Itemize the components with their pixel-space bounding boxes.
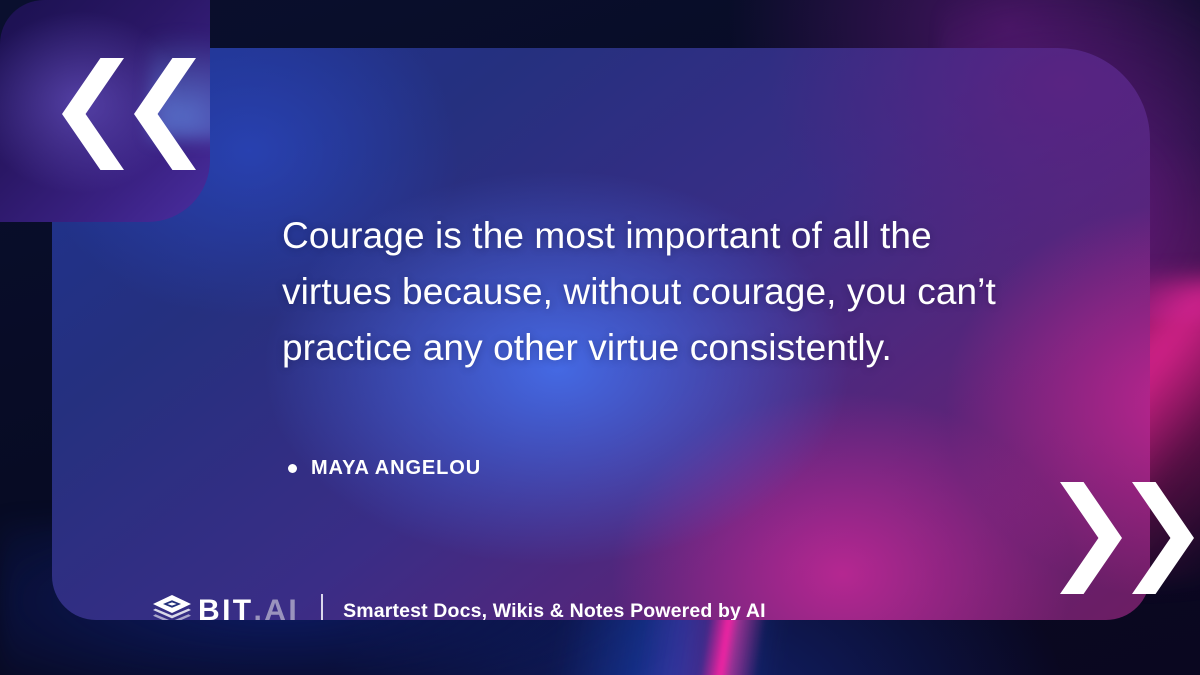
quote-text: Courage is the most important of all the… xyxy=(282,208,1012,376)
chevron-left-icon-1 xyxy=(62,58,124,170)
quote-attribution: MAYA ANGELOU xyxy=(288,457,481,480)
bullet-icon xyxy=(288,464,297,473)
brand-wordmark: BIT .AI xyxy=(198,596,299,620)
brand-name-primary: BIT xyxy=(198,596,254,620)
opening-quote-tab xyxy=(0,0,210,222)
author-name: MAYA ANGELOU xyxy=(311,457,481,480)
brand-divider xyxy=(321,594,323,620)
quote-card-canvas: Courage is the most important of all the… xyxy=(0,0,1200,675)
chevron-right-icon-2 xyxy=(1132,482,1194,594)
stacked-layers-icon xyxy=(152,594,192,620)
brand-name-secondary: .AI xyxy=(254,596,300,620)
chevron-left-icon-2 xyxy=(134,58,196,170)
brand-tagline: Smartest Docs, Wikis & Notes Powered by … xyxy=(343,600,766,621)
double-chevron-left-icon xyxy=(62,58,196,170)
chevron-right-icon-1 xyxy=(1060,482,1122,594)
quote-card: Courage is the most important of all the… xyxy=(52,48,1150,620)
brand-lockup: BIT .AI Smartest Docs, Wikis & Notes Pow… xyxy=(152,588,766,620)
double-chevron-right-icon xyxy=(1060,482,1194,594)
